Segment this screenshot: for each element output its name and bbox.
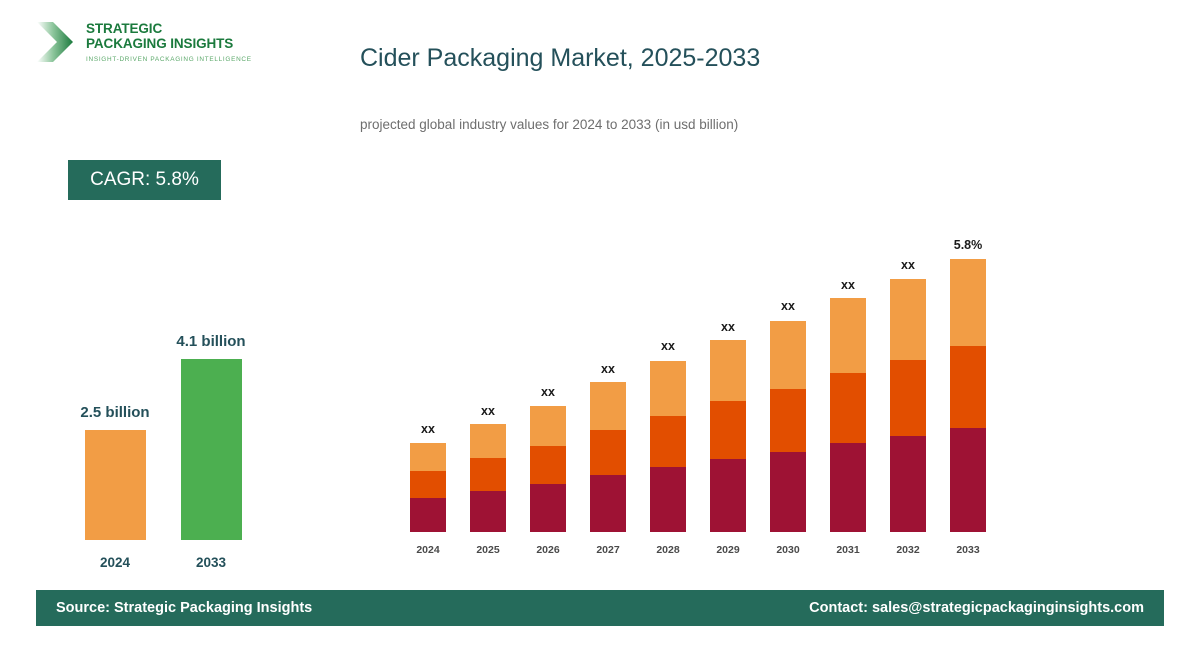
stacked-bar-label: 2030 — [758, 544, 818, 556]
stacked-bar-segment-segment-middle — [590, 430, 626, 475]
stacked-bar-segment-segment-middle — [530, 446, 566, 484]
stacked-bar-value: xx — [638, 339, 698, 353]
stacked-bar-label: 2025 — [458, 544, 518, 556]
comparison-bar — [85, 430, 146, 540]
stacked-bar-column: xx2027 — [578, 220, 638, 556]
stacked-bar-segment-segment-bottom — [710, 459, 746, 532]
comparison-bar-column: 4.1 billion2033 — [166, 324, 256, 570]
stacked-bar-value: xx — [818, 278, 878, 292]
stacked-bar-segment-segment-bottom — [590, 475, 626, 532]
stacked-bar-segment-segment-bottom — [650, 467, 686, 532]
comparison-bar-label: 2033 — [166, 555, 256, 570]
stacked-bar-segment-segment-top — [950, 259, 986, 346]
stacked-bar — [710, 340, 746, 532]
stacked-bar-value: xx — [758, 299, 818, 313]
stacked-bar-label: 2033 — [938, 544, 998, 556]
stacked-bar — [530, 406, 566, 532]
stacked-bar-value: xx — [458, 404, 518, 418]
stacked-bar-segment-segment-middle — [890, 360, 926, 436]
footer-bar: Source: Strategic Packaging Insights Con… — [36, 590, 1164, 626]
stacked-bar-segment-segment-bottom — [530, 484, 566, 532]
stacked-bar-column: xx2030 — [758, 220, 818, 556]
stacked-bar — [770, 321, 806, 532]
stacked-bar-segment-segment-middle — [710, 401, 746, 459]
stacked-bar-segment-segment-top — [530, 406, 566, 446]
stacked-bar-segment-segment-top — [830, 298, 866, 373]
stacked-bar-segment-segment-top — [410, 443, 446, 471]
stacked-bar-column: xx2028 — [638, 220, 698, 556]
stacked-bar-segment-segment-top — [710, 340, 746, 401]
stacked-bar-segment-segment-bottom — [950, 428, 986, 532]
stacked-bar-segment-segment-top — [650, 361, 686, 416]
stacked-bar-segment-segment-middle — [470, 458, 506, 491]
stacked-bar-segment-segment-top — [590, 382, 626, 430]
comparison-bar — [181, 359, 242, 540]
stacked-bar-column: xx2024 — [398, 220, 458, 556]
footer-contact: Contact: sales@strategicpackaginginsight… — [809, 600, 1144, 616]
stacked-bar-label: 2028 — [638, 544, 698, 556]
stacked-bar — [890, 279, 926, 532]
stacked-bar-segment-segment-middle — [650, 416, 686, 467]
stacked-bar-value: xx — [578, 362, 638, 376]
stacked-bar-segment-segment-middle — [950, 346, 986, 428]
logo-wordmark: STRATEGIC PACKAGING INSIGHTS INSIGHT-DRI… — [86, 21, 252, 63]
stacked-bar-segment-segment-middle — [770, 389, 806, 452]
footer-source: Source: Strategic Packaging Insights — [56, 600, 312, 616]
stacked-bar-segment-segment-bottom — [470, 491, 506, 532]
stacked-bar-segment-segment-middle — [410, 471, 446, 498]
logo-tagline: INSIGHT-DRIVEN PACKAGING INTELLIGENCE — [86, 56, 252, 63]
stacked-bar-value: 5.8% — [938, 238, 998, 252]
page-title: Cider Packaging Market, 2025-2033 — [360, 44, 760, 73]
stacked-bar-column: xx2029 — [698, 220, 758, 556]
brand-logo: STRATEGIC PACKAGING INSIGHTS INSIGHT-DRI… — [33, 18, 252, 66]
stacked-bar — [470, 424, 506, 532]
comparison-bar-value: 2.5 billion — [70, 404, 160, 421]
stacked-bar-label: 2026 — [518, 544, 578, 556]
stacked-bar — [410, 443, 446, 532]
comparison-bar-chart: 2.5 billion20244.1 billion2033 — [60, 300, 290, 570]
logo-line-1: STRATEGIC — [86, 21, 252, 36]
stacked-bar-label: 2031 — [818, 544, 878, 556]
stacked-bar-column: xx2032 — [878, 220, 938, 556]
stacked-bar-segment-segment-top — [890, 279, 926, 360]
stacked-bar-segment-segment-top — [470, 424, 506, 458]
stacked-bar — [590, 382, 626, 532]
forecast-stacked-bar-chart: xx2024xx2025xx2026xx2027xx2028xx2029xx20… — [398, 196, 1018, 556]
stacked-bar — [830, 298, 866, 532]
stacked-bar-segment-segment-top — [770, 321, 806, 389]
stacked-bar-column: 5.8%2033 — [938, 220, 998, 556]
comparison-bar-column: 2.5 billion2024 — [70, 324, 160, 570]
stacked-bar-column: xx2031 — [818, 220, 878, 556]
stacked-bar-segment-segment-bottom — [830, 443, 866, 532]
cagr-badge-label: CAGR: 5.8% — [90, 169, 199, 191]
chevron-right-logo-icon — [33, 18, 77, 66]
stacked-bar-label: 2024 — [398, 544, 458, 556]
page-subtitle: projected global industry values for 202… — [360, 117, 738, 132]
logo-line-2: PACKAGING INSIGHTS — [86, 36, 252, 51]
stacked-bar-segment-segment-middle — [830, 373, 866, 443]
stacked-bar-segment-segment-bottom — [770, 452, 806, 532]
stacked-bar-value: xx — [698, 320, 758, 334]
stacked-bar-segment-segment-bottom — [410, 498, 446, 532]
cagr-badge: CAGR: 5.8% — [68, 160, 221, 200]
stacked-bar-label: 2027 — [578, 544, 638, 556]
stacked-bar — [950, 259, 986, 532]
comparison-bar-label: 2024 — [70, 555, 160, 570]
stacked-bar-segment-segment-bottom — [890, 436, 926, 532]
stacked-bar-value: xx — [878, 258, 938, 272]
stacked-bar-label: 2032 — [878, 544, 938, 556]
stacked-bar-value: xx — [518, 385, 578, 399]
stacked-bar-value: xx — [398, 422, 458, 436]
stacked-bar-label: 2029 — [698, 544, 758, 556]
stacked-bar-column: xx2025 — [458, 220, 518, 556]
comparison-bar-value: 4.1 billion — [166, 333, 256, 350]
stacked-bar-column: xx2026 — [518, 220, 578, 556]
stacked-bar — [650, 361, 686, 532]
